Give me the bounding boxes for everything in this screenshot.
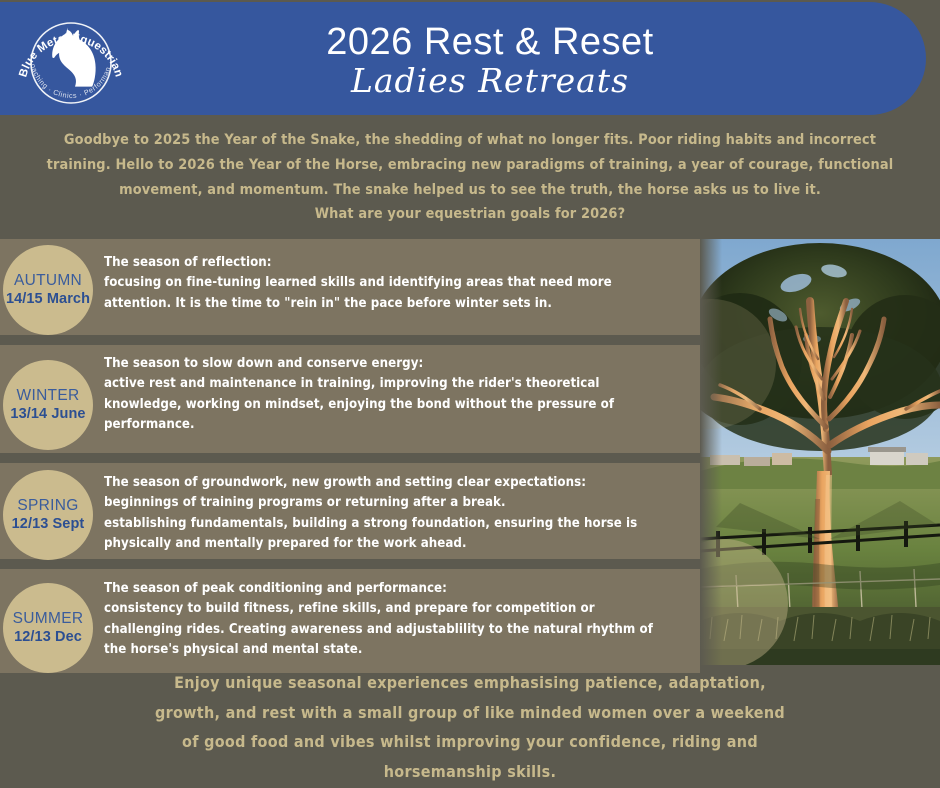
poster-canvas: Blue Metal Equestrian Coaching · Clinics… <box>0 0 940 788</box>
season-name: AUTUMN <box>14 272 82 289</box>
season-badge-spring: SPRING 12/13 Sept <box>3 470 93 560</box>
season-badge-winter: WINTER 13/14 June <box>3 360 93 450</box>
season-line: active rest and maintenance in training,… <box>104 374 688 394</box>
season-line: The season of reflection: <box>104 253 688 273</box>
season-line: knowledge, working on mindset, enjoying … <box>104 395 688 415</box>
intro-line: training. Hello to 2026 the Year of the … <box>8 153 932 178</box>
season-dates: 12/13 Dec <box>14 628 82 646</box>
footer-line: Enjoy unique seasonal experiences emphas… <box>8 668 932 698</box>
footer-line: horsemanship skills. <box>8 757 932 787</box>
season-line: attention. It is the time to "rein in" t… <box>104 294 688 314</box>
season-dates: 12/13 Sept <box>12 515 85 533</box>
season-list: AUTUMN 14/15 March The season of reflect… <box>0 239 700 683</box>
season-line: performance. <box>104 415 688 435</box>
header-banner: Blue Metal Equestrian Coaching · Clinics… <box>0 2 926 115</box>
season-line: The season of peak conditioning and perf… <box>104 579 688 599</box>
intro-line: Goodbye to 2025 the Year of the Snake, t… <box>8 128 932 153</box>
gum-tree-paddock-photo <box>700 239 940 665</box>
footer-line: of good food and vibes whilst improving … <box>8 727 932 757</box>
intro-line: movement, and momentum. The snake helped… <box>8 178 932 203</box>
season-badge-autumn: AUTUMN 14/15 March <box>3 245 93 335</box>
season-line: consistency to build fitness, refine ski… <box>104 599 688 619</box>
season-description-summer: The season of peak conditioning and perf… <box>104 569 700 669</box>
season-description-winter: The season to slow down and conserve ene… <box>104 345 700 444</box>
season-row-autumn[interactable]: AUTUMN 14/15 March The season of reflect… <box>0 239 700 335</box>
season-name: WINTER <box>17 387 80 404</box>
season-description-spring: The season of groundwork, new growth and… <box>104 463 700 563</box>
season-dates: 14/15 March <box>6 290 90 308</box>
season-line: focusing on fine-tuning learned skills a… <box>104 273 688 293</box>
season-name: SUMMER <box>13 610 84 627</box>
intro-question-line: What are your equestrian goals for 2026? <box>8 202 932 227</box>
season-name: SPRING <box>17 497 78 514</box>
header-title-group: 2026 Rest & Reset Ladies Retreats <box>140 2 840 115</box>
season-dates: 13/14 June <box>10 405 85 423</box>
season-line: physically and mentally prepared for the… <box>104 534 688 554</box>
season-line: The season to slow down and conserve ene… <box>104 354 688 374</box>
footer-paragraph: Enjoy unique seasonal experiences emphas… <box>8 668 932 786</box>
season-line: challenging rides. Creating awareness an… <box>104 620 688 640</box>
footer-line: growth, and rest with a small group of l… <box>8 698 932 728</box>
season-row-winter[interactable]: WINTER 13/14 June The season to slow dow… <box>0 345 700 453</box>
intro-paragraph: Goodbye to 2025 the Year of the Snake, t… <box>8 128 932 227</box>
season-row-spring[interactable]: SPRING 12/13 Sept The season of groundwo… <box>0 463 700 559</box>
season-line: the horse's physical and mental state. <box>104 640 688 660</box>
season-description-autumn: The season of reflection: focusing on fi… <box>104 239 700 322</box>
season-line: The season of groundwork, new growth and… <box>104 473 688 493</box>
photo-left-edge-fade <box>700 239 722 665</box>
season-badge-summer: SUMMER 12/13 Dec <box>3 583 93 673</box>
brand-logo: Blue Metal Equestrian Coaching · Clinics… <box>8 6 134 114</box>
season-line: beginnings of training programs or retur… <box>104 493 688 513</box>
season-line: establishing fundamentals, building a st… <box>104 514 688 534</box>
season-row-summer[interactable]: SUMMER 12/13 Dec The season of peak cond… <box>0 569 700 673</box>
page-subtitle: Ladies Retreats <box>351 64 629 97</box>
page-title: 2026 Rest & Reset <box>326 23 653 61</box>
